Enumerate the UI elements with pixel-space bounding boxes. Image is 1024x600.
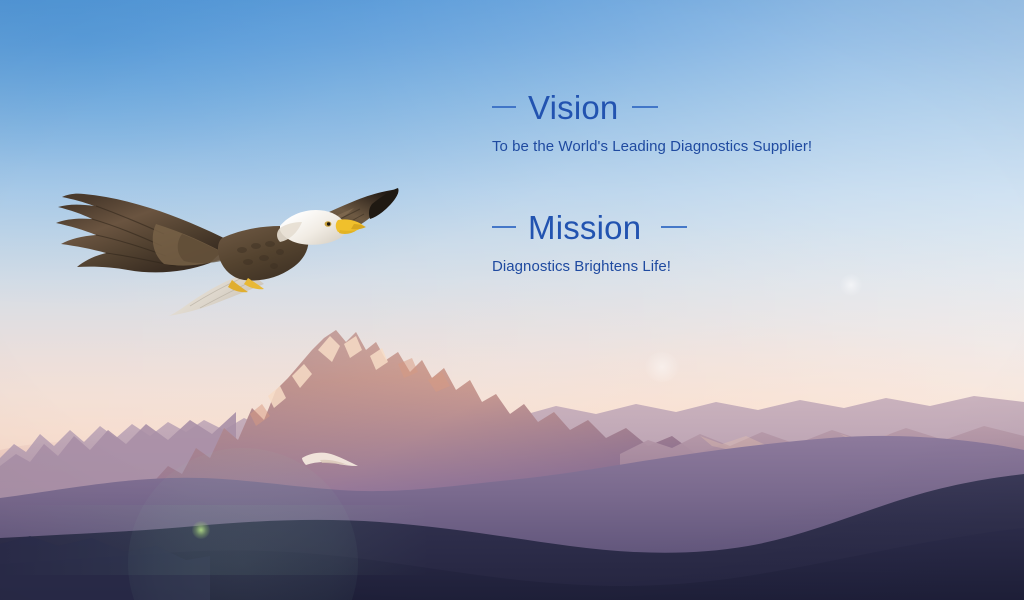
vision-subtitle: To be the World's Leading Diagnostics Su…: [492, 138, 912, 156]
mountain-layer-foreground: [0, 460, 1024, 600]
mission-dash-left-icon: [492, 226, 516, 228]
vision-mission-panel: Vision To be the World's Leading Diagnos…: [492, 84, 912, 276]
hero-banner: Vision To be the World's Leading Diagnos…: [0, 0, 1024, 600]
vision-dash-left-icon: [492, 106, 516, 108]
vision-block: Vision To be the World's Leading Diagnos…: [492, 84, 912, 156]
eagle-left-wing: [56, 194, 232, 273]
bald-eagle-in-flight-icon: [36, 168, 400, 316]
mission-heading-row: Mission: [492, 204, 912, 250]
vision-heading: Vision: [528, 91, 618, 124]
mission-block: Mission Diagnostics Brightens Life!: [492, 204, 912, 276]
mission-dash-right-icon: [661, 226, 687, 228]
mission-subtitle: Diagnostics Brightens Life!: [492, 258, 912, 276]
vision-heading-row: Vision: [492, 84, 912, 130]
vision-dash-right-icon: [632, 106, 658, 108]
white-bird-in-flight-icon: [300, 446, 362, 476]
mission-heading: Mission: [528, 211, 641, 244]
